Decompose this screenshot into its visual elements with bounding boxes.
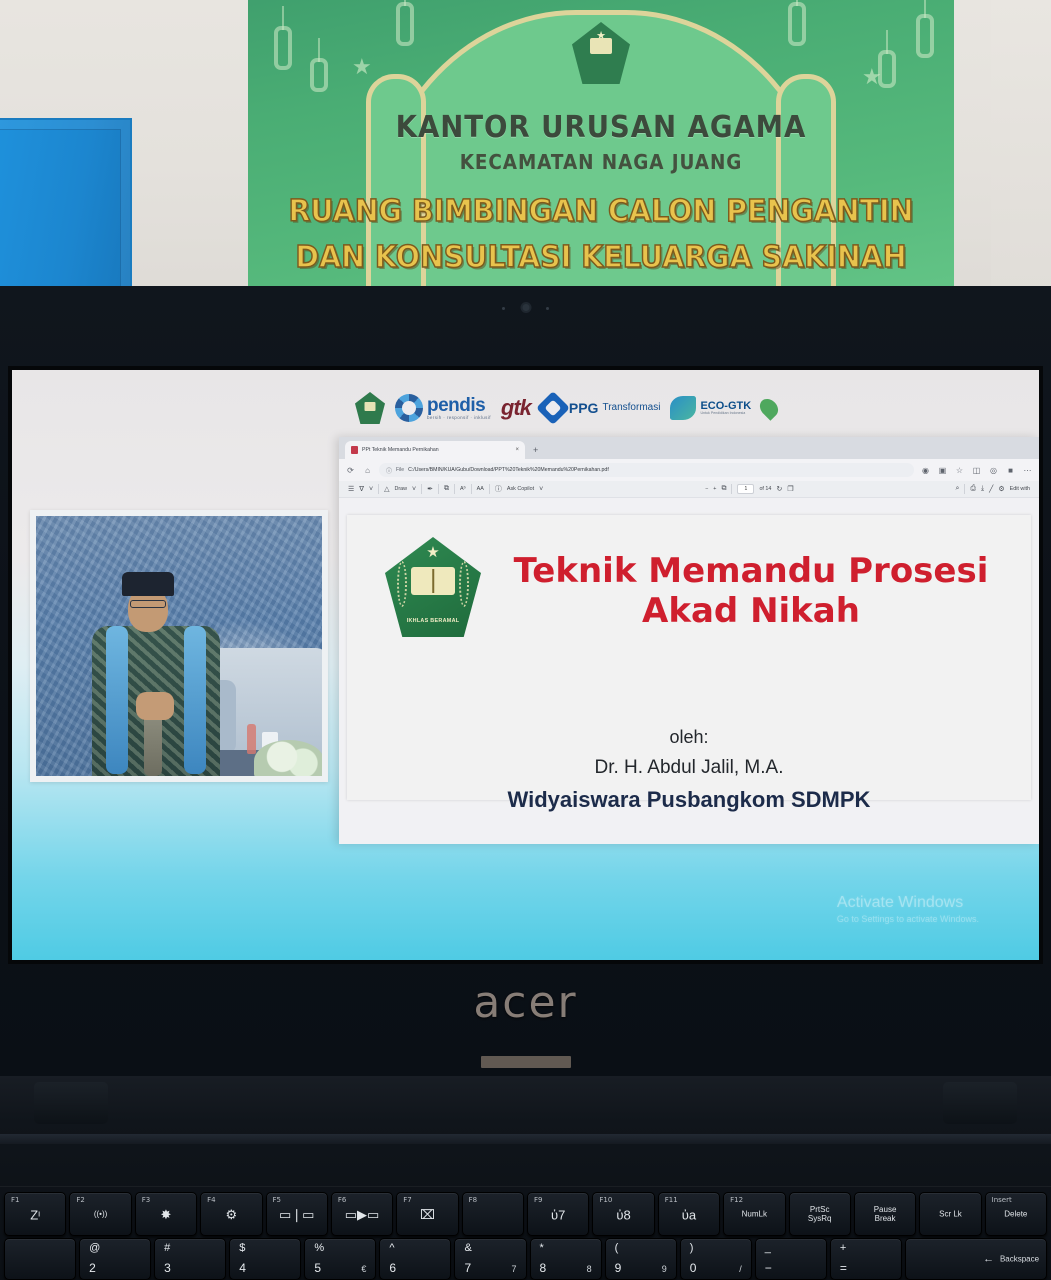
deck-seam xyxy=(0,1186,1051,1187)
key-fn-label: F7 xyxy=(403,1196,411,1204)
key-lower-label: 3 xyxy=(164,1261,171,1275)
key-upper-label: _ xyxy=(765,1242,771,1254)
file-badge: File xyxy=(396,467,404,473)
gtk-label: gtk xyxy=(501,397,531,419)
zoom-out-button[interactable]: − xyxy=(705,486,708,492)
slide-title-line2: Akad Nikah xyxy=(497,591,1005,631)
ask-copilot-button[interactable]: ⓘ Ask Copilot ˅ xyxy=(490,484,548,494)
key-alt-label: 9 xyxy=(662,1264,667,1274)
webcam-mic-right-icon xyxy=(546,307,549,310)
key-3[interactable]: #3 xyxy=(154,1238,226,1280)
eco-gtk-sub: Untuk Pendidikan Indonesia xyxy=(700,412,751,416)
save-icon[interactable]: ⤓ xyxy=(981,485,984,493)
key-insert[interactable]: InsertDelete xyxy=(985,1192,1047,1236)
kemenag-logo xyxy=(355,392,385,424)
key-label: Backspace xyxy=(1000,1255,1039,1264)
key-6[interactable]: ^6 xyxy=(379,1238,451,1280)
key-glyph-icon: ὐ7 xyxy=(551,1207,565,1222)
gtk-logo: gtk xyxy=(501,397,531,419)
key-numrow-0[interactable] xyxy=(4,1238,76,1280)
favorites-star-icon[interactable]: ☆ xyxy=(954,466,965,475)
ppg-label: PPG xyxy=(569,401,599,415)
key-lower-label: 0 xyxy=(690,1261,697,1275)
key-upper-label: ^ xyxy=(389,1242,394,1254)
laptop-screen[interactable]: pendis bersih · responsif · inklusif gtk… xyxy=(12,370,1039,960)
slide-author: Dr. H. Abdul Jalil, M.A. xyxy=(347,757,1031,779)
photo-scene: ★ KANTOR URUSAN AGAMA KECAMATAN NAGA JUA… xyxy=(0,0,1051,1280)
profile-icon[interactable]: ■ xyxy=(1005,466,1016,475)
ask-copilot-label: Ask Copilot xyxy=(507,486,534,492)
read-aloud-icon[interactable]: Aᵇ xyxy=(460,486,466,492)
pendis-mark-icon xyxy=(395,394,423,422)
webcam-mic-left-icon xyxy=(502,307,505,310)
key-9[interactable]: (99 xyxy=(605,1238,677,1280)
key-f12[interactable]: F12NumLk xyxy=(723,1192,785,1236)
lantern-icon xyxy=(788,2,806,46)
banner-subtitle: KECAMATAN NAGA JUANG xyxy=(276,150,926,174)
draw-icon[interactable]: △ xyxy=(384,485,389,493)
draw-tool[interactable]: △ Draw ˅ xyxy=(379,485,421,493)
zoom-in-button[interactable]: + xyxy=(713,486,716,492)
key-alt-label: / xyxy=(739,1264,742,1274)
hinge-left xyxy=(34,1082,108,1124)
key-glyph-icon: ✸ xyxy=(160,1207,171,1223)
key-glyph-icon: NumLk xyxy=(742,1209,767,1218)
slide-by-label: oleh: xyxy=(347,727,1031,748)
sidebar-toggle-icon[interactable]: ☰ xyxy=(348,485,354,493)
browser-menu-icon[interactable]: ⋯ xyxy=(1022,466,1033,475)
photo-bottle xyxy=(247,724,256,754)
desktop-photo xyxy=(30,510,328,782)
rotate-icon[interactable]: ↻ xyxy=(776,485,782,493)
key-fnrow-14[interactable]: Scr Lk xyxy=(919,1192,981,1236)
extensions-icon[interactable]: ◉ xyxy=(920,466,931,475)
settings-gear-icon[interactable]: ⚙ xyxy=(998,485,1004,493)
home-icon[interactable]: ⌂ xyxy=(362,466,373,475)
key-glyph-icon: Scr Lk xyxy=(939,1209,962,1218)
pdf-toolbar[interactable]: ☰ ∇ ˅ △ Draw ˅ ✒ xyxy=(339,481,1039,498)
key-fn-label: F11 xyxy=(665,1196,678,1204)
key-lower-label: − xyxy=(765,1261,772,1275)
key-glyph-icon: ((•)) xyxy=(94,1209,107,1218)
key-glyph-icon: Zᶦ xyxy=(30,1207,40,1222)
key-=[interactable]: += xyxy=(830,1238,902,1280)
slide-author-role: Widyaiswara Pusbangkom SDMPK xyxy=(347,787,1031,813)
key-fnrow-12[interactable]: PrtSc SysRq xyxy=(789,1192,851,1236)
pdf-favicon-icon xyxy=(351,446,358,454)
room-wall-right xyxy=(991,0,1051,300)
lantern-icon xyxy=(916,14,934,58)
collections-icon[interactable]: ▣ xyxy=(937,466,948,475)
key-fn-label: F3 xyxy=(142,1196,150,1204)
key-lower-label: 7 xyxy=(464,1261,471,1275)
browser-navbar[interactable]: ⟳ ⌂ ⓘ File C:/Users/BMIN/KUA/Gubu/Downlo… xyxy=(339,459,1039,481)
blue-door xyxy=(0,118,132,300)
photo-microphone xyxy=(144,714,162,776)
pendis-tagline: bersih · responsif · inklusif xyxy=(427,415,491,420)
zoom-controls[interactable]: − + ⧉ xyxy=(700,485,731,493)
browser-tabstrip[interactable]: PPt Teknik Memandu Pernikahan × + xyxy=(339,437,1039,459)
fit-page-icon[interactable]: ⧉ xyxy=(721,485,726,493)
key-f10[interactable]: F10ὐ8 xyxy=(592,1192,654,1236)
key-fn-label: F9 xyxy=(534,1196,542,1204)
highlight-tool[interactable]: ✒ xyxy=(422,485,438,493)
key-4[interactable]: $4 xyxy=(229,1238,301,1280)
lantern-icon xyxy=(310,58,328,92)
banner-room-line2: DAN KONSULTASI KELUARGA SAKINAH xyxy=(266,240,937,275)
read-aloud-tool[interactable]: Aᵇ xyxy=(455,486,471,492)
ppg-mark-icon xyxy=(536,391,570,425)
banner-title: KANTOR URUSAN AGAMA xyxy=(276,110,926,145)
key-fn-label: F1 xyxy=(11,1196,19,1204)
laptop-keyboard-deck: F1ZᶦF2((•))F3✸F4⚙F5▭❘▭F6▭▶▭F7⌧F8F9ὐ7F10ὐ… xyxy=(0,1076,1051,1280)
logo-star-icon: ★ xyxy=(426,545,439,560)
address-bar-url[interactable]: C:/Users/BMIN/KUA/Gubu/Download/PPT%20Te… xyxy=(408,467,609,473)
key-upper-label: + xyxy=(840,1242,846,1254)
logo-strip: pendis bersih · responsif · inklusif gtk… xyxy=(355,386,855,430)
keyboard-function-row[interactable]: F1ZᶦF2((•))F3✸F4⚙F5▭❘▭F6▭▶▭F7⌧F8F9ὐ7F10ὐ… xyxy=(0,1192,1051,1236)
logo-wreath-right-icon xyxy=(459,561,469,607)
key-upper-label: ) xyxy=(690,1242,694,1254)
copilot-icon[interactable]: ◎ xyxy=(988,466,999,475)
key-fnrow-13[interactable]: Pause Break xyxy=(854,1192,916,1236)
key-upper-label: # xyxy=(164,1242,170,1254)
slide-title: Teknik Memandu Prosesi Akad Nikah xyxy=(497,551,1005,631)
key-f4[interactable]: F4⚙ xyxy=(200,1192,262,1236)
edit-with-button[interactable]: Edit with xyxy=(1010,486,1030,492)
key-f5[interactable]: F5▭❘▭ xyxy=(266,1192,328,1236)
browser-window[interactable]: PPt Teknik Memandu Pernikahan × + ⟳ ⌂ ⓘ … xyxy=(339,437,1039,844)
pdf-toolbar-right[interactable]: ⌕ ⎙ ⤓ ╱ ⚙ Edit with xyxy=(951,484,1036,494)
backspace-arrow-icon: ← xyxy=(983,1253,994,1265)
address-bar[interactable]: ⓘ File C:/Users/BMIN/KUA/Gubu/Download/P… xyxy=(379,463,914,477)
draw-chevron-down-icon[interactable]: ˅ xyxy=(412,486,416,493)
key-f7[interactable]: F7⌧ xyxy=(396,1192,458,1236)
key-lower-label: 9 xyxy=(615,1261,622,1275)
pendis-label: pendis xyxy=(427,396,491,415)
key-lower-label: 2 xyxy=(89,1261,96,1275)
key-f1[interactable]: F1Zᶦ xyxy=(4,1192,66,1236)
logo-book-icon xyxy=(411,567,455,595)
print-icon[interactable]: ⎙ xyxy=(970,485,976,493)
copilot-icon: ⓘ xyxy=(495,484,502,494)
kemenag-slide-logo: ★ IKHLAS BERAMAL xyxy=(385,537,481,637)
key-lower-label: 6 xyxy=(389,1261,396,1275)
key-fn-label: F6 xyxy=(338,1196,346,1204)
ppg-logo: PPG Transformasi xyxy=(541,396,661,420)
split-screen-icon[interactable]: ◫ xyxy=(971,466,982,475)
songkok-icon xyxy=(122,572,174,596)
pen-icon[interactable]: ╱ xyxy=(989,485,993,493)
pdf-page[interactable]: ★ IKHLAS BERAMAL Teknik Memandu Prosesi … xyxy=(347,515,1031,800)
key-glyph-icon: PrtSc SysRq xyxy=(808,1205,832,1223)
webcam-icon xyxy=(522,304,529,311)
key-0[interactable]: )0/ xyxy=(680,1238,752,1280)
key-lower-label: 8 xyxy=(540,1261,547,1275)
key-fn-label: F12 xyxy=(730,1196,743,1204)
keyboard-number-row[interactable]: @2#3$4%5€^6&77*88(99)0/_−+=←Backspace xyxy=(0,1238,1051,1280)
text-size-tool[interactable]: AA xyxy=(472,486,489,492)
key-f11[interactable]: F11ὐa xyxy=(658,1192,720,1236)
key-fn-label: F4 xyxy=(207,1196,215,1204)
key-8[interactable]: *88 xyxy=(530,1238,602,1280)
toolbar-divider xyxy=(964,484,965,494)
reload-icon[interactable]: ⟳ xyxy=(345,466,356,475)
page-number-input[interactable]: 1 xyxy=(737,484,754,494)
photo-person xyxy=(92,564,220,776)
search-icon[interactable]: ⌕ xyxy=(956,485,960,493)
key-f3[interactable]: F3✸ xyxy=(135,1192,197,1236)
draw-label: Draw xyxy=(394,486,407,492)
browser-nav-right[interactable]: ◉ ▣ ☆ ◫ ◎ ■ ⋯ xyxy=(920,466,1033,475)
key-fn-label: F2 xyxy=(76,1196,84,1204)
logo-motto: IKHLAS BERAMAL xyxy=(407,618,460,624)
key-2[interactable]: @2 xyxy=(79,1238,151,1280)
model-sticker xyxy=(481,1056,571,1068)
page-navigation[interactable]: 1 of 14 ↻ ❐ xyxy=(732,484,798,494)
photo-flowers xyxy=(254,740,322,776)
erase-tool[interactable]: ⧉ xyxy=(439,485,454,493)
lantern-icon xyxy=(274,26,292,70)
key-alt-label: 7 xyxy=(512,1264,517,1274)
key-upper-label: & xyxy=(464,1242,471,1254)
kua-banner: ★ KANTOR URUSAN AGAMA KECAMATAN NAGA JUA… xyxy=(248,0,954,292)
close-tab-icon[interactable]: × xyxy=(515,447,519,453)
key-alt-label: 8 xyxy=(587,1264,592,1274)
hinge-right xyxy=(943,1082,1017,1124)
key-glyph-icon: ὐ8 xyxy=(616,1207,630,1222)
logo-wreath-left-icon xyxy=(397,561,407,607)
key-f2[interactable]: F2((•)) xyxy=(69,1192,131,1236)
ppg-sub: Transformasi xyxy=(602,403,660,413)
eco-gtk-mark-icon xyxy=(670,396,696,420)
info-icon: ⓘ xyxy=(386,466,392,475)
key-lower-label: = xyxy=(840,1261,847,1275)
chevron-down-icon[interactable]: ˅ xyxy=(369,486,373,493)
browser-tab-title: PPt Teknik Memandu Pernikahan xyxy=(362,447,511,453)
key-7[interactable]: &77 xyxy=(454,1238,526,1280)
key-fn-label: F10 xyxy=(599,1196,612,1204)
pdf-toolbar-left[interactable]: ☰ ∇ ˅ xyxy=(343,485,378,493)
key-glyph-icon: ⚙ xyxy=(225,1207,237,1223)
new-tab-button[interactable]: + xyxy=(525,441,546,459)
erase-icon[interactable]: ⧉ xyxy=(444,485,449,493)
page-layout-icon[interactable]: ❐ xyxy=(787,485,793,493)
key-glyph-icon: Pause Break xyxy=(874,1205,897,1223)
eco-gtk-logo: ECO-GTK Untuk Pendidikan Indonesia xyxy=(670,396,751,420)
pendis-logo: pendis bersih · responsif · inklusif xyxy=(395,394,491,422)
acer-brand-logo: acer xyxy=(473,977,577,1028)
key-glyph-icon: ὐa xyxy=(682,1207,696,1222)
key-5[interactable]: %5€ xyxy=(304,1238,376,1280)
key-upper-label: ( xyxy=(615,1242,619,1254)
key-glyph-icon: ▭▶▭ xyxy=(345,1207,380,1223)
pustaka-mark-icon xyxy=(756,395,781,420)
key-backspace[interactable]: ←Backspace xyxy=(905,1238,1047,1280)
activate-windows-watermark: Activate Windows Go to Settings to activ… xyxy=(837,893,979,926)
slide-title-line1: Teknik Memandu Prosesi xyxy=(497,551,1005,591)
highlight-icon[interactable]: ✒ xyxy=(427,485,433,493)
glasses-icon xyxy=(130,600,166,608)
key-upper-label: % xyxy=(314,1242,324,1254)
browser-tab[interactable]: PPt Teknik Memandu Pernikahan × xyxy=(345,441,525,459)
copilot-chevron-down-icon[interactable]: ˅ xyxy=(539,486,543,493)
pustaka-logo xyxy=(761,398,777,418)
key-lower-label: 4 xyxy=(239,1261,246,1275)
key-fn-label: Insert xyxy=(992,1196,1012,1204)
lantern-icon xyxy=(396,2,414,46)
text-size-icon[interactable]: AA xyxy=(477,486,484,492)
key-upper-label: * xyxy=(540,1242,544,1254)
key-f6[interactable]: F6▭▶▭ xyxy=(331,1192,393,1236)
key-fn-label: F8 xyxy=(469,1196,477,1204)
page-total-label: of 14 xyxy=(759,486,771,492)
key-fn-label: F5 xyxy=(273,1196,281,1204)
key-glyph-icon: ▭❘▭ xyxy=(279,1207,314,1223)
key-upper-label: $ xyxy=(239,1242,245,1254)
laptop-lid: pendis bersih · responsif · inklusif gtk… xyxy=(0,286,1051,1076)
banner-room-line1: RUANG BIMBINGAN CALON PENGANTIN xyxy=(266,194,937,229)
key-−[interactable]: _− xyxy=(755,1238,827,1280)
key-f8[interactable]: F8 xyxy=(462,1192,524,1236)
deck-strip xyxy=(0,1134,1051,1144)
key-glyph-icon: ⌧ xyxy=(420,1207,435,1223)
watermark-line2: Go to Settings to activate Windows. xyxy=(837,913,979,926)
watermark-line1: Activate Windows xyxy=(837,893,979,914)
tools-icon[interactable]: ∇ xyxy=(359,485,364,493)
key-upper-label: @ xyxy=(89,1242,100,1254)
key-lower-label: 5 xyxy=(314,1261,321,1275)
key-glyph-icon: Delete xyxy=(1004,1209,1027,1218)
key-alt-label: € xyxy=(361,1264,366,1274)
key-f9[interactable]: F9ὐ7 xyxy=(527,1192,589,1236)
emblem-star-icon: ★ xyxy=(596,31,606,42)
